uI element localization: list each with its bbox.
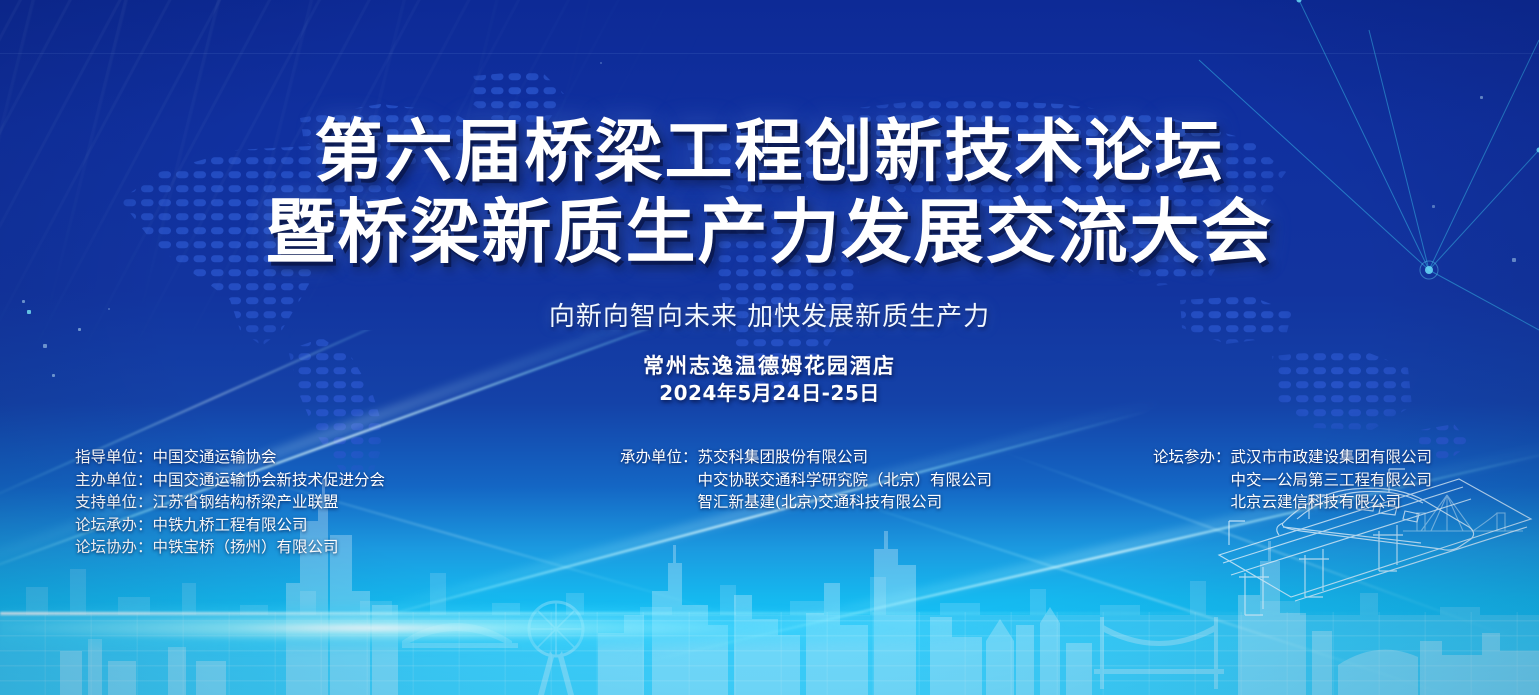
title-line-1: 第六届桥梁工程创新技术论坛 — [0, 112, 1539, 192]
organizers-column-middle: 承办单位： 苏交科集团股份有限公司 承办单位： 中交协联交通科学研究院（北京）有… — [620, 446, 992, 514]
banner-content: 第六届桥梁工程创新技术论坛 暨桥梁新质生产力发展交流大会 向新向智向未来 加快发… — [0, 0, 1539, 695]
organizer-row: 指导单位： 中国交通运输协会 — [75, 446, 385, 469]
organizers-column-right: 论坛参办： 武汉市市政建设集团有限公司 论坛参办： 中交一公局第三工程有限公司 … — [1153, 446, 1432, 514]
organizer-label: 指导单位： — [75, 446, 153, 469]
organizer-label: 承办单位： — [620, 446, 698, 469]
organizer-value: 江苏省钢结构桥梁产业联盟 — [153, 491, 339, 514]
organizer-value: 中交一公局第三工程有限公司 — [1231, 469, 1433, 492]
organizer-row: 论坛承办： 中铁九桥工程有限公司 — [75, 514, 385, 537]
organizer-row: 论坛参办： 武汉市市政建设集团有限公司 — [1153, 446, 1432, 469]
organizer-row: 承办单位： 中交协联交通科学研究院（北京）有限公司 — [620, 469, 992, 492]
organizer-row: 承办单位： 智汇新基建(北京)交通科技有限公司 — [620, 491, 992, 514]
organizer-label: 论坛参办： — [1153, 446, 1231, 469]
organizer-value: 苏交科集团股份有限公司 — [698, 446, 869, 469]
organizer-label: 论坛协办： — [75, 536, 153, 559]
title-line-2: 暨桥梁新质生产力发展交流大会 — [0, 192, 1539, 272]
organizer-value: 中国交通运输协会 — [153, 446, 277, 469]
organizers-column-left: 指导单位： 中国交通运输协会 主办单位： 中国交通运输协会新技术促进分会 支持单… — [75, 446, 385, 559]
organizer-label: 支持单位： — [75, 491, 153, 514]
venue-block: 常州志逸温德姆花园酒店 2024年5月24日-25日 — [0, 352, 1539, 407]
organizer-value: 北京云建信科技有限公司 — [1231, 491, 1402, 514]
organizer-row: 主办单位： 中国交通运输协会新技术促进分会 — [75, 469, 385, 492]
organizer-label: 论坛承办： — [75, 514, 153, 537]
organizer-row: 论坛参办： 北京云建信科技有限公司 — [1153, 491, 1432, 514]
conference-banner: 第六届桥梁工程创新技术论坛 暨桥梁新质生产力发展交流大会 向新向智向未来 加快发… — [0, 0, 1539, 695]
subtitle: 向新向智向未来 加快发展新质生产力 — [0, 296, 1539, 333]
organizer-value: 智汇新基建(北京)交通科技有限公司 — [698, 491, 943, 514]
event-dates: 2024年5月24日-25日 — [0, 380, 1539, 407]
organizers-section: 指导单位： 中国交通运输协会 主办单位： 中国交通运输协会新技术促进分会 支持单… — [0, 446, 1539, 566]
organizer-row: 承办单位： 苏交科集团股份有限公司 — [620, 446, 992, 469]
organizer-value: 中交协联交通科学研究院（北京）有限公司 — [698, 469, 993, 492]
organizer-value: 中国交通运输协会新技术促进分会 — [153, 469, 386, 492]
organizer-row: 论坛协办： 中铁宝桥（扬州）有限公司 — [75, 536, 385, 559]
organizer-label: 主办单位： — [75, 469, 153, 492]
venue-name: 常州志逸温德姆花园酒店 — [0, 352, 1539, 380]
title-block: 第六届桥梁工程创新技术论坛 暨桥梁新质生产力发展交流大会 — [0, 112, 1539, 272]
organizer-value: 中铁九桥工程有限公司 — [153, 514, 308, 537]
organizer-value: 武汉市市政建设集团有限公司 — [1231, 446, 1433, 469]
organizer-value: 中铁宝桥（扬州）有限公司 — [153, 536, 339, 559]
organizer-row: 支持单位： 江苏省钢结构桥梁产业联盟 — [75, 491, 385, 514]
organizer-row: 论坛参办： 中交一公局第三工程有限公司 — [1153, 469, 1432, 492]
